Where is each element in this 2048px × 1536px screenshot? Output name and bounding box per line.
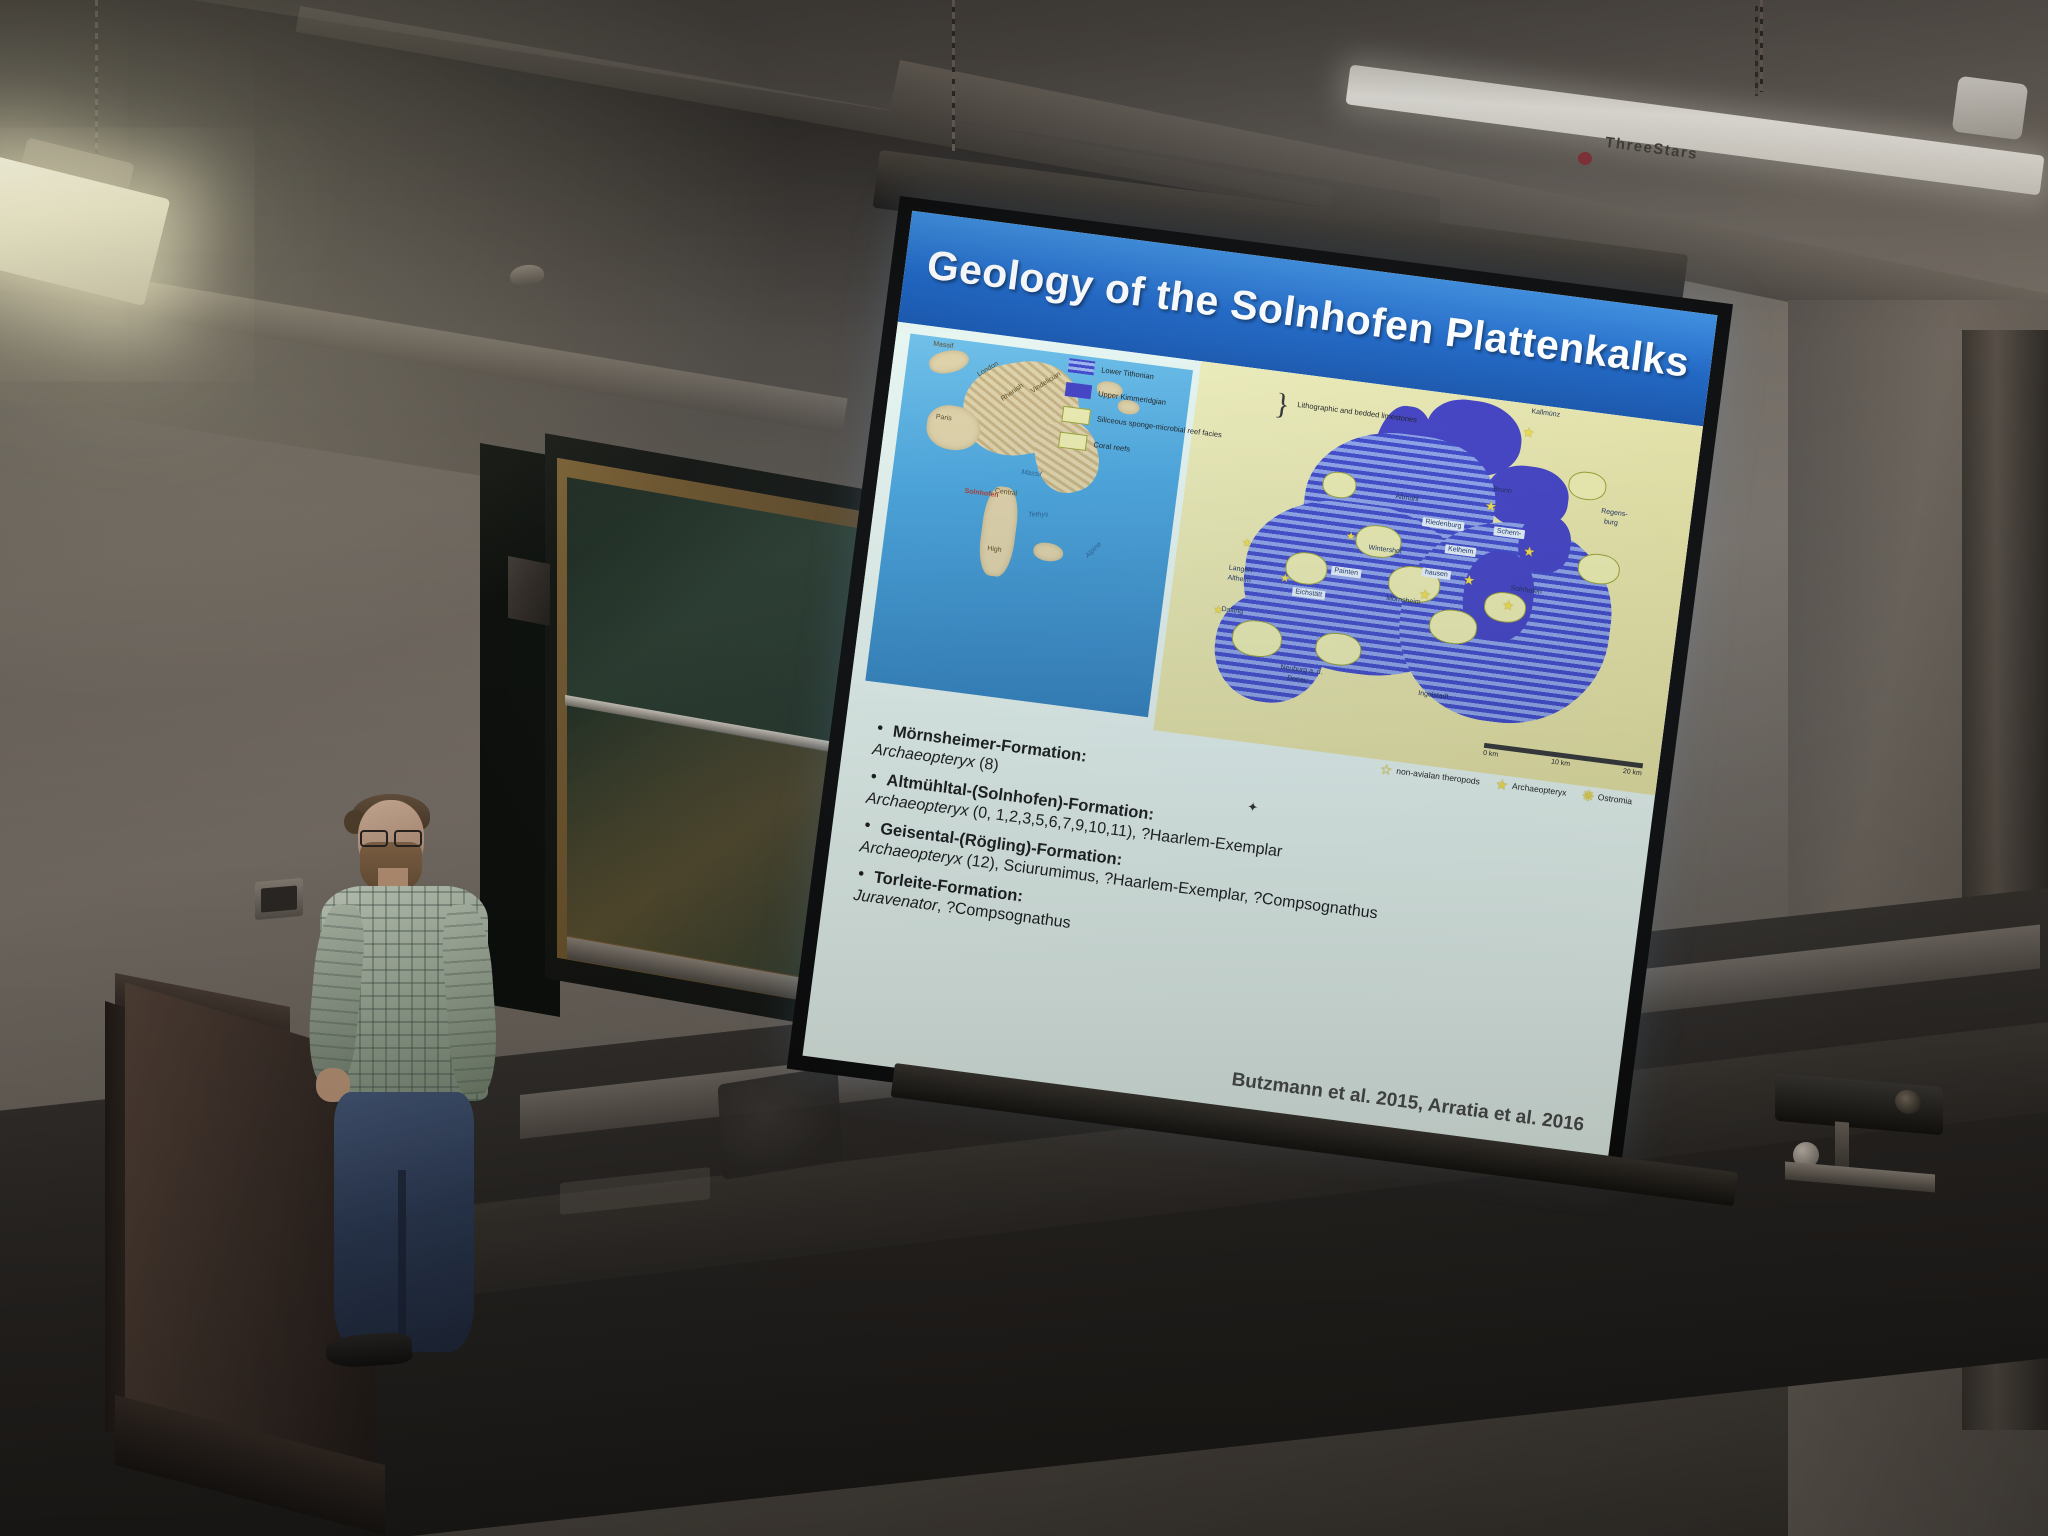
inset-label: Massif [1021,469,1042,479]
lamp-chain [95,0,98,175]
fossil-site-star-icon: ★ [1345,531,1356,543]
wall-vent [508,556,550,626]
fossil-site-star-icon: ★ [1502,598,1515,612]
screen-chain [1760,0,1763,92]
lamp-chain [1755,0,1758,96]
inset-label: Alpine [1084,541,1103,560]
landmass [927,347,971,377]
star-legend-label: Ostromia [1597,792,1632,806]
mouse-cursor-icon[interactable]: ✦ [1246,799,1259,816]
map-place-label: burg [1603,518,1618,527]
presentation-slide: Geology of the Solnhofen Plattenkalks Lo… [802,211,1717,1160]
fossil-site-star-icon: ★ [1484,499,1497,513]
map-place-label: Kallmünz [1531,408,1560,419]
ostromia-star-icon: ❋ [1581,788,1594,803]
screen-chain [952,0,955,152]
projection-screen: Geology of the Solnhofen Plattenkalks Lo… [787,196,1733,1177]
taxon-specimens: (8) [974,754,1000,774]
legend-swatch-coral-reef-icon [1058,432,1088,451]
legend-label: Upper Kimmeridgian [1098,389,1167,407]
scalebar-tick: 20 km [1622,768,1642,777]
lamp-end-cap [1952,76,2029,141]
presenter-shoe [325,1331,413,1369]
map-place-label: Regens- [1601,508,1628,518]
legend-swatch-tithonian-icon [1068,358,1096,375]
fossil-site-star-icon: ★ [1522,425,1535,439]
scalebar-tick: 10 km [1551,759,1571,768]
presenter-leg-seam [398,1170,406,1355]
landmass [1032,541,1064,563]
legend-label: Coral reefs [1093,440,1131,454]
presenter [320,800,500,1360]
fossil-site-star-icon: ★ [1523,544,1536,558]
scalebar-tick: 0 km [1483,750,1499,759]
inset-label: Tethys [1028,511,1048,518]
archaeopteryx-star-icon: ★ [1495,777,1509,793]
fossil-site-star-icon: ★ [1241,538,1252,550]
legend-label: Siliceous sponge-microbial reef facies [1096,414,1222,439]
landmass [976,485,1021,579]
fossil-site-star-icon: ★ [1462,573,1475,587]
legend-label: Lower Tithonian [1101,365,1155,381]
legend-swatch-sponge-reef-icon [1061,406,1091,425]
wall-patch [718,1066,843,1180]
reef-patch [1567,470,1608,503]
fossil-site-star-icon: ★ [1279,573,1290,585]
glasses-icon [360,830,422,843]
legend-swatch-kimmeridgian-icon [1065,382,1093,399]
lecture-hall-scene: ThreeStars Geology of the Solnhofen Plat… [0,0,2048,1536]
wall-camera [1775,1080,1945,1160]
wall-socket [255,878,303,920]
theropod-star-icon: ☆ [1379,762,1393,778]
inset-label: Massif [933,341,954,351]
